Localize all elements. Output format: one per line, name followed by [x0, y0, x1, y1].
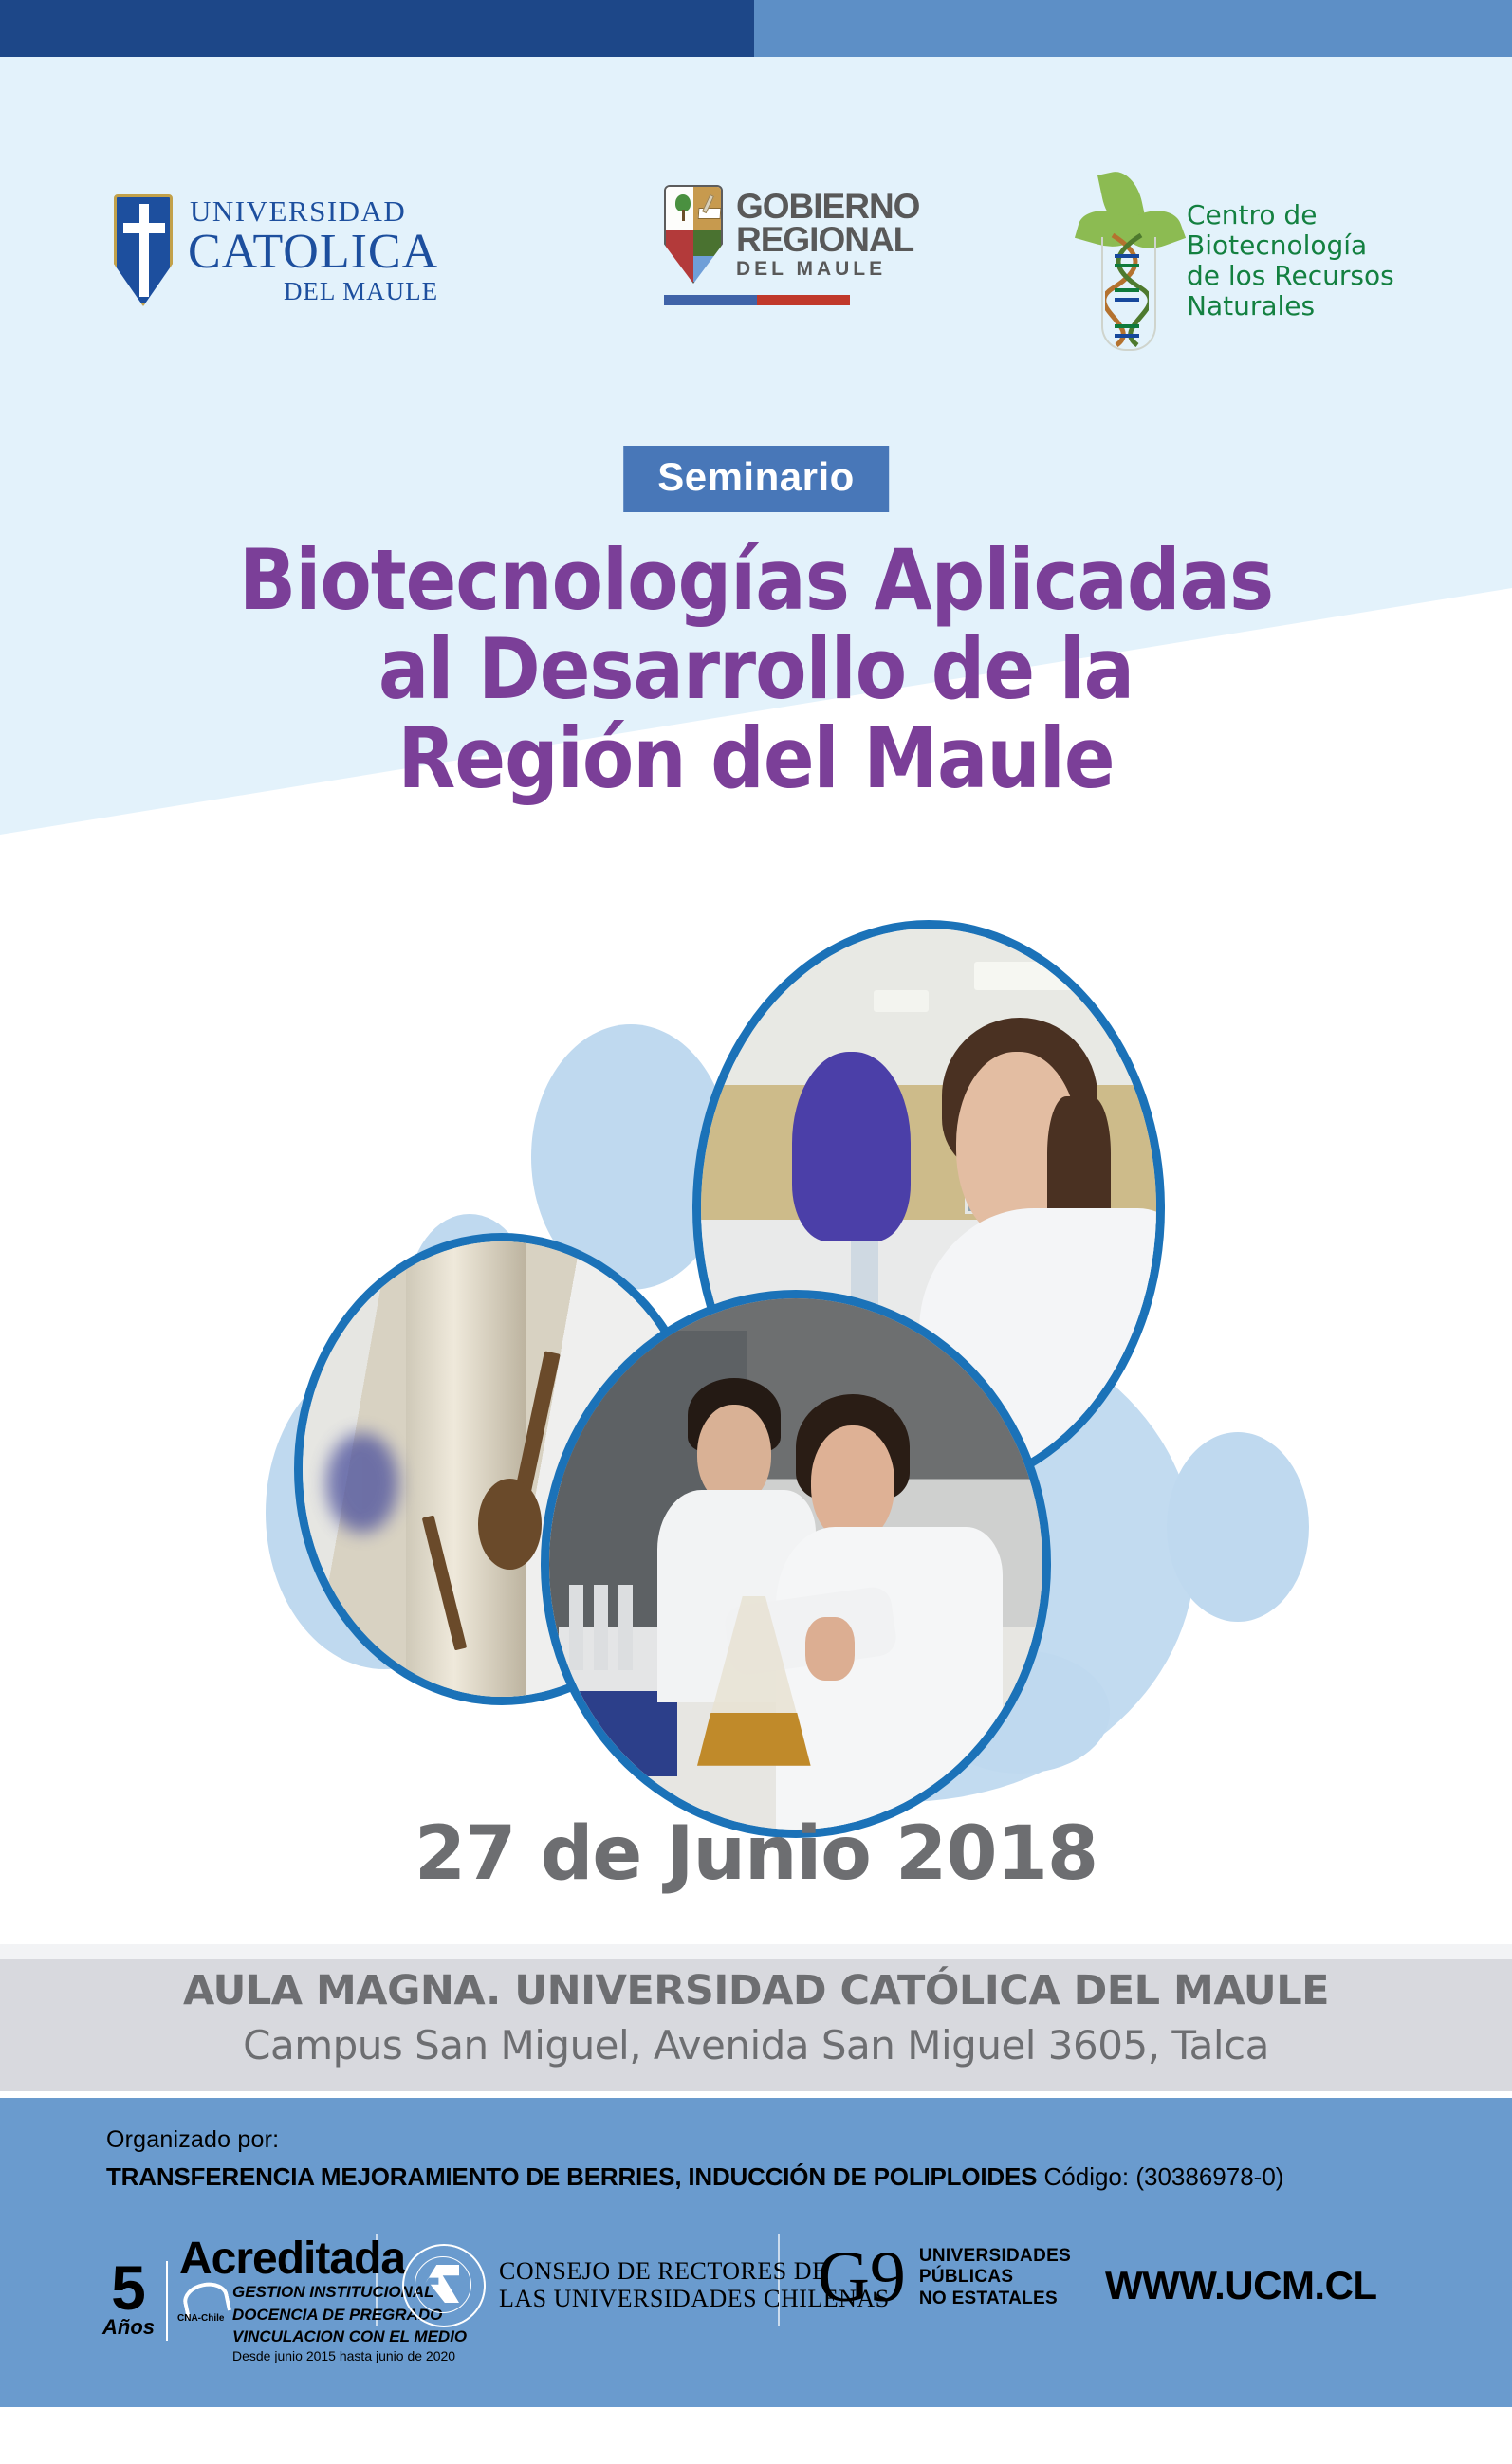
- ucm-shield-icon: [114, 194, 173, 306]
- g9-line-1: UNIVERSIDADES: [919, 2246, 1071, 2267]
- seminario-badge: Seminario: [623, 446, 889, 512]
- g9-mark: G9: [818, 2250, 906, 2306]
- cbrn-line-2: Biotecnología: [1187, 230, 1394, 261]
- logo-consejo-de-rectores: CONSEJO DE RECTORES DE LAS UNIVERSIDADES…: [402, 2244, 890, 2327]
- accreditation-years-unit: Años: [102, 2315, 155, 2340]
- ucm-line-2: CATOLICA: [188, 228, 438, 277]
- g9-line-2: PÚBLICAS: [919, 2267, 1071, 2288]
- decorative-circle: [1167, 1432, 1309, 1622]
- organizer-line: TRANSFERENCIA MEJORAMIENTO DE BERRIES, I…: [106, 2162, 1283, 2192]
- dna-leaf-icon: [1077, 171, 1177, 351]
- organized-by-label: Organizado por:: [106, 2126, 279, 2154]
- title-line-1: Biotecnologías Aplicadas: [0, 536, 1512, 625]
- venue-name: AULA MAGNA. UNIVERSIDAD CATÓLICA DEL MAU…: [0, 1967, 1512, 2014]
- project-name: TRANSFERENCIA MEJORAMIENTO DE BERRIES, I…: [106, 2162, 1037, 2191]
- g9-wordmark: UNIVERSIDADES PÚBLICAS NO ESTATALES: [919, 2246, 1071, 2309]
- title-line-3: Región del Maule: [0, 714, 1512, 803]
- poster-root: UNIVERSIDAD CATOLICA DEL MAULE GOBIERNO …: [0, 0, 1512, 2464]
- cna-chile-icon: CNA-Chile: [179, 2279, 225, 2325]
- top-bar-dark-segment: [0, 0, 754, 57]
- photo-researchers-with-flask: [541, 1290, 1051, 1838]
- photo-collage: [0, 901, 1512, 1745]
- poster-title: Biotecnologías Aplicadas al Desarrollo d…: [0, 536, 1512, 803]
- cruch-seal-icon: [402, 2244, 486, 2327]
- website-url[interactable]: WWW.UCM.CL: [1105, 2263, 1377, 2308]
- top-color-bar: [0, 0, 1512, 57]
- accreditation-years-number: 5: [102, 2262, 155, 2313]
- gore-line-1: GOBIERNO: [736, 190, 919, 223]
- cbrn-line-4: Naturales: [1187, 291, 1394, 322]
- chile-flag-bar-icon: [664, 295, 850, 305]
- accreditation-rule: [166, 2261, 168, 2341]
- cbrn-line-3: de los Recursos: [1187, 261, 1394, 291]
- logo-gobierno-regional-del-maule: GOBIERNO REGIONAL DEL MAULE: [664, 185, 919, 305]
- footer-bottom-white-strip: [0, 2407, 1512, 2464]
- gore-coat-of-arms-icon: [664, 185, 723, 284]
- gore-line-2: REGIONAL: [736, 223, 919, 256]
- ucm-line-3: DEL MAULE: [188, 279, 438, 304]
- accreditation-period: Desde junio 2015 hasta junio de 2020: [232, 2348, 467, 2363]
- ucm-line-1: UNIVERSIDAD: [188, 196, 438, 226]
- ucm-wordmark: UNIVERSIDAD CATOLICA DEL MAULE: [188, 196, 438, 304]
- cna-agency-label: CNA-Chile: [177, 2313, 224, 2324]
- g9-line-3: NO ESTATALES: [919, 2289, 1071, 2309]
- project-code: Código: (30386978-0): [1044, 2162, 1284, 2191]
- cbrn-wordmark: Centro de Biotecnología de los Recursos …: [1187, 200, 1394, 322]
- accreditation-criterion-3: VINCULACION CON EL MEDIO: [232, 2327, 467, 2345]
- top-bar-light-segment: [754, 0, 1512, 57]
- title-line-2: al Desarrollo de la: [0, 625, 1512, 714]
- gore-wordmark: GOBIERNO REGIONAL DEL MAULE: [736, 190, 919, 279]
- gore-line-3: DEL MAULE: [736, 260, 919, 279]
- logo-centro-de-biotecnologia: Centro de Biotecnología de los Recursos …: [1077, 171, 1394, 351]
- dna-helix-icon: [1105, 233, 1149, 347]
- cbrn-line-1: Centro de: [1187, 200, 1394, 230]
- logo-universidad-catolica-del-maule: UNIVERSIDAD CATOLICA DEL MAULE: [114, 194, 438, 306]
- venue-address: Campus San Miguel, Avenida San Miguel 36…: [0, 2022, 1512, 2069]
- event-date: 27 de Junio 2018: [0, 1811, 1512, 1897]
- venue-band: AULA MAGNA. UNIVERSIDAD CATÓLICA DEL MAU…: [0, 1944, 1512, 2091]
- logo-g9-universidades: G9 UNIVERSIDADES PÚBLICAS NO ESTATALES: [818, 2246, 1071, 2309]
